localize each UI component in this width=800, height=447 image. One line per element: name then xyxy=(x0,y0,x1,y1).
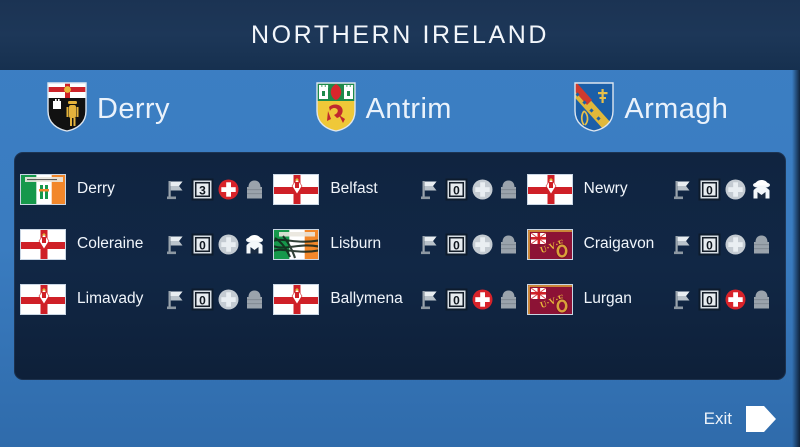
uvf-flag: U·V·F xyxy=(527,284,573,315)
medical-cross-icon[interactable] xyxy=(724,178,747,201)
flag-icon[interactable] xyxy=(419,288,442,311)
irish-tricolour-defaced-flag xyxy=(273,229,319,260)
flag-icon[interactable] xyxy=(165,233,188,256)
city-row[interactable]: U·V·F Lurgan 0 xyxy=(527,282,780,316)
building-icon[interactable] xyxy=(497,233,520,256)
title-bar: NORTHERN IRELAND xyxy=(0,0,800,70)
building-icon[interactable] xyxy=(750,288,773,311)
ulster-banner-flag xyxy=(20,229,66,260)
city-status-icons: 0 xyxy=(419,233,527,256)
county-header-armagh[interactable]: Armagh xyxy=(541,70,800,148)
county-header-derry[interactable]: Derry xyxy=(0,70,273,148)
building-icon[interactable] xyxy=(750,233,773,256)
building-icon[interactable] xyxy=(243,288,266,311)
flag-icon[interactable] xyxy=(165,178,188,201)
ulster-banner-flag xyxy=(527,174,573,205)
city-row[interactable]: U·V·F Craigavon 0 xyxy=(527,227,780,261)
informant-icon[interactable] xyxy=(243,233,266,256)
game-screen: NORTHERN IRELAND Derry xyxy=(0,0,800,447)
city-status-icons: 0 xyxy=(419,178,527,201)
city-row[interactable]: Limavady 0 xyxy=(20,282,273,316)
svg-text:0: 0 xyxy=(453,293,460,307)
city-status-icons: 0 xyxy=(165,288,273,311)
medical-cross-icon[interactable] xyxy=(471,288,494,311)
irish-tricolour-banner-flag xyxy=(20,174,66,205)
svg-text:3: 3 xyxy=(199,183,206,197)
building-icon[interactable] xyxy=(243,178,266,201)
city-status-icons: 0 xyxy=(672,178,780,201)
county-name: Antrim xyxy=(366,93,452,126)
city-row[interactable]: Ballymena 0 xyxy=(273,282,526,316)
city-status-icons: 3 xyxy=(165,178,273,201)
exit-label: Exit xyxy=(704,409,732,429)
ulster-banner-flag xyxy=(20,284,66,315)
counter-icon[interactable]: 0 xyxy=(191,288,214,311)
derry-crest-icon xyxy=(46,81,88,138)
ulster-banner-flag xyxy=(273,284,319,315)
medical-cross-icon[interactable] xyxy=(217,288,240,311)
city-status-icons: 0 xyxy=(672,233,780,256)
svg-text:0: 0 xyxy=(453,238,460,252)
counter-icon[interactable]: 0 xyxy=(445,233,468,256)
svg-text:0: 0 xyxy=(706,183,713,197)
svg-text:0: 0 xyxy=(199,238,206,252)
medical-cross-icon[interactable] xyxy=(724,288,747,311)
flag-icon[interactable] xyxy=(672,288,695,311)
city-status-icons: 0 xyxy=(672,288,780,311)
counter-icon[interactable]: 0 xyxy=(445,288,468,311)
armagh-crest-icon xyxy=(573,81,615,138)
counter-icon[interactable]: 0 xyxy=(698,178,721,201)
city-name: Newry xyxy=(584,180,628,198)
svg-text:0: 0 xyxy=(706,293,713,307)
medical-cross-icon[interactable] xyxy=(724,233,747,256)
building-icon[interactable] xyxy=(497,288,520,311)
flag-icon[interactable] xyxy=(672,178,695,201)
informant-icon[interactable] xyxy=(750,178,773,201)
city-row[interactable]: Newry 0 xyxy=(527,172,780,206)
city-name: Craigavon xyxy=(584,235,655,253)
city-row[interactable]: Coleraine 0 xyxy=(20,227,273,261)
svg-text:0: 0 xyxy=(706,238,713,252)
city-row[interactable]: Belfast 0 xyxy=(273,172,526,206)
city-name: Ballymena xyxy=(330,290,402,308)
counter-icon[interactable]: 0 xyxy=(698,233,721,256)
county-name: Derry xyxy=(97,93,170,126)
flag-icon[interactable] xyxy=(672,233,695,256)
arrow-right-icon xyxy=(744,403,778,435)
cities-panel: Derry 3 Coleraine 0 xyxy=(14,152,786,380)
city-name: Belfast xyxy=(330,180,377,198)
ulster-banner-flag xyxy=(273,174,319,205)
flag-icon[interactable] xyxy=(419,233,442,256)
flag-icon[interactable] xyxy=(165,288,188,311)
svg-text:0: 0 xyxy=(199,293,206,307)
medical-cross-icon[interactable] xyxy=(471,178,494,201)
medical-cross-icon[interactable] xyxy=(217,178,240,201)
counter-icon[interactable]: 0 xyxy=(191,233,214,256)
city-row[interactable]: Lisburn 0 xyxy=(273,227,526,261)
antrim-crest-icon xyxy=(315,81,357,138)
city-name: Coleraine xyxy=(77,235,143,253)
right-edge-shadow xyxy=(792,70,800,447)
flag-icon[interactable] xyxy=(419,178,442,201)
county-header-antrim[interactable]: Antrim xyxy=(273,70,542,148)
medical-cross-icon[interactable] xyxy=(471,233,494,256)
city-status-icons: 0 xyxy=(165,233,273,256)
city-column-derry: Derry 3 Coleraine 0 xyxy=(20,172,273,366)
city-name: Lisburn xyxy=(330,235,381,253)
city-name: Limavady xyxy=(77,290,143,308)
city-name: Lurgan xyxy=(584,290,632,308)
cities-columns: Derry 3 Coleraine 0 xyxy=(14,152,786,380)
svg-text:0: 0 xyxy=(453,183,460,197)
counter-icon[interactable]: 0 xyxy=(445,178,468,201)
county-header-row: Derry Antrim xyxy=(0,70,800,148)
counter-icon[interactable]: 3 xyxy=(191,178,214,201)
city-name: Derry xyxy=(77,180,115,198)
city-column-armagh: Newry 0 U·V·F Craigavon xyxy=(527,172,780,366)
uvf-flag: U·V·F xyxy=(527,229,573,260)
city-row[interactable]: Derry 3 xyxy=(20,172,273,206)
city-column-antrim: Belfast 0 Lisburn xyxy=(273,172,526,366)
city-status-icons: 0 xyxy=(419,288,527,311)
counter-icon[interactable]: 0 xyxy=(698,288,721,311)
exit-button[interactable]: Exit xyxy=(704,403,778,435)
medical-cross-icon[interactable] xyxy=(217,233,240,256)
county-name: Armagh xyxy=(624,93,728,126)
building-icon[interactable] xyxy=(497,178,520,201)
page-title: NORTHERN IRELAND xyxy=(251,21,549,50)
